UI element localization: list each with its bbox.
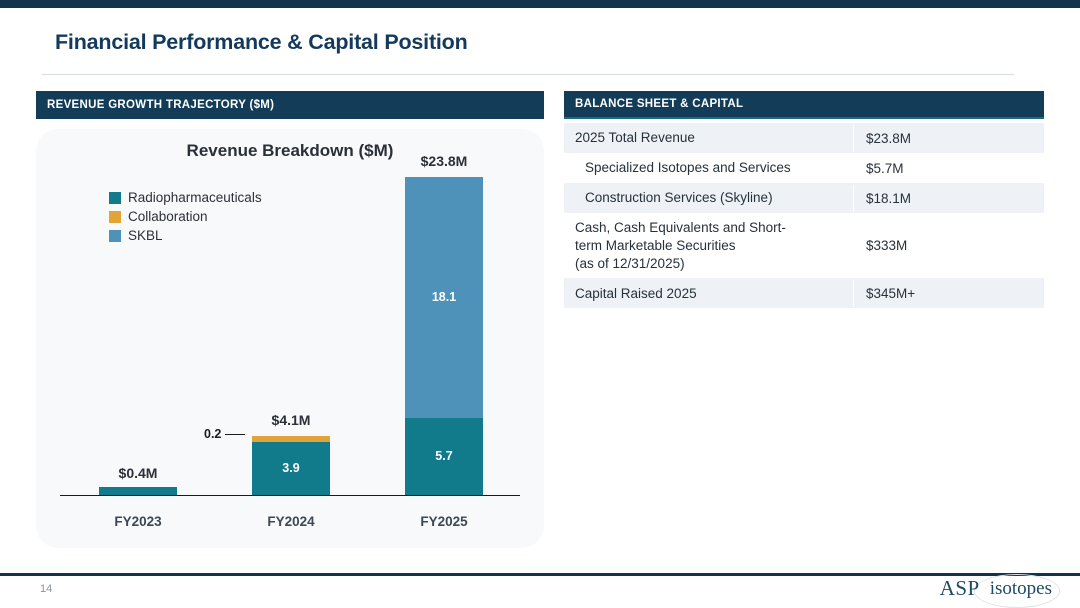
chart-plot-area: $0.4M FY2023 $4.1M 0.2 3.9 FY2024 $23.8M… (36, 129, 544, 548)
section-header-revenue-label: REVENUE GROWTH TRAJECTORY ($M) (47, 99, 274, 111)
table-row: Specialized Isotopes and Services$5.7M (564, 153, 1044, 183)
bar-total-label-fy2024: $4.1M (230, 412, 352, 428)
table-row: Cash, Cash Equivalents and Short-term Ma… (564, 213, 1044, 278)
table-cell-label: Capital Raised 2025 (564, 279, 853, 309)
bar-segment-label-fy2024-radio: 3.9 (252, 461, 330, 475)
logo-secondary-text: isotopes (986, 578, 1056, 600)
bar-segment-skbl-fy2025[interactable]: 18.1 (405, 177, 483, 419)
bar-group-fy2025[interactable]: $23.8M 18.1 5.7 FY2025 (405, 177, 483, 495)
balance-sheet-table: 2025 Total Revenue$23.8MSpecialized Isot… (564, 123, 1044, 308)
segment-callout-value: 0.2 (204, 427, 221, 441)
table-cell-value: $345M+ (853, 280, 1044, 307)
top-accent-bar (0, 0, 1080, 8)
section-header-revenue: REVENUE GROWTH TRAJECTORY ($M) (36, 91, 544, 119)
bar-segment-label-fy2025-radio: 5.7 (405, 449, 483, 463)
table-cell-label: Construction Services (Skyline) (564, 183, 853, 213)
table-cell-value: $18.1M (853, 185, 1044, 212)
section-header-balance-sheet-label: BALANCE SHEET & CAPITAL (575, 98, 743, 110)
bar-segment-radiopharmaceuticals-fy2023[interactable] (99, 487, 177, 495)
bar-total-label-fy2025: $23.8M (383, 153, 505, 169)
section-header-balance-sheet: BALANCE SHEET & CAPITAL (564, 91, 1044, 119)
table-cell-value: $5.7M (853, 155, 1044, 182)
bar-total-label-fy2023: $0.4M (77, 465, 199, 481)
table-row: 2025 Total Revenue$23.8M (564, 123, 1044, 153)
page-title: Financial Performance & Capital Position (55, 30, 468, 55)
bar-segment-radiopharmaceuticals-fy2025[interactable]: 5.7 (405, 418, 483, 494)
category-label-fy2025: FY2025 (383, 514, 505, 529)
table-cell-label: Cash, Cash Equivalents and Short-term Ma… (564, 213, 853, 278)
table-row: Construction Services (Skyline)$18.1M (564, 183, 1044, 213)
table-cell-value: $333M (853, 232, 1044, 259)
x-axis-line (60, 495, 520, 497)
table-cell-label: Specialized Isotopes and Services (564, 153, 853, 183)
category-label-fy2024: FY2024 (230, 514, 352, 529)
table-cell-value: $23.8M (853, 125, 1044, 152)
callout-leader-line (225, 434, 245, 436)
page-number: 14 (40, 583, 52, 595)
brand-logo: ASP isotopes (940, 576, 1056, 601)
category-label-fy2023: FY2023 (77, 514, 199, 529)
revenue-chart-card: Revenue Breakdown ($M) Radiopharmaceutic… (36, 129, 544, 548)
segment-callout-collaboration-fy2024: 0.2 (204, 427, 245, 441)
bar-segment-label-fy2025-skbl: 18.1 (405, 290, 483, 304)
footer-divider (0, 573, 1080, 576)
bar-group-fy2023[interactable]: $0.4M FY2023 (99, 487, 177, 495)
table-cell-label: 2025 Total Revenue (564, 123, 853, 153)
logo-primary-text: ASP (940, 576, 980, 601)
bar-group-fy2024[interactable]: $4.1M 0.2 3.9 FY2024 (252, 436, 330, 494)
title-divider (42, 74, 1014, 75)
table-row: Capital Raised 2025$345M+ (564, 278, 1044, 308)
bar-segment-radiopharmaceuticals-fy2024[interactable]: 3.9 (252, 442, 330, 494)
